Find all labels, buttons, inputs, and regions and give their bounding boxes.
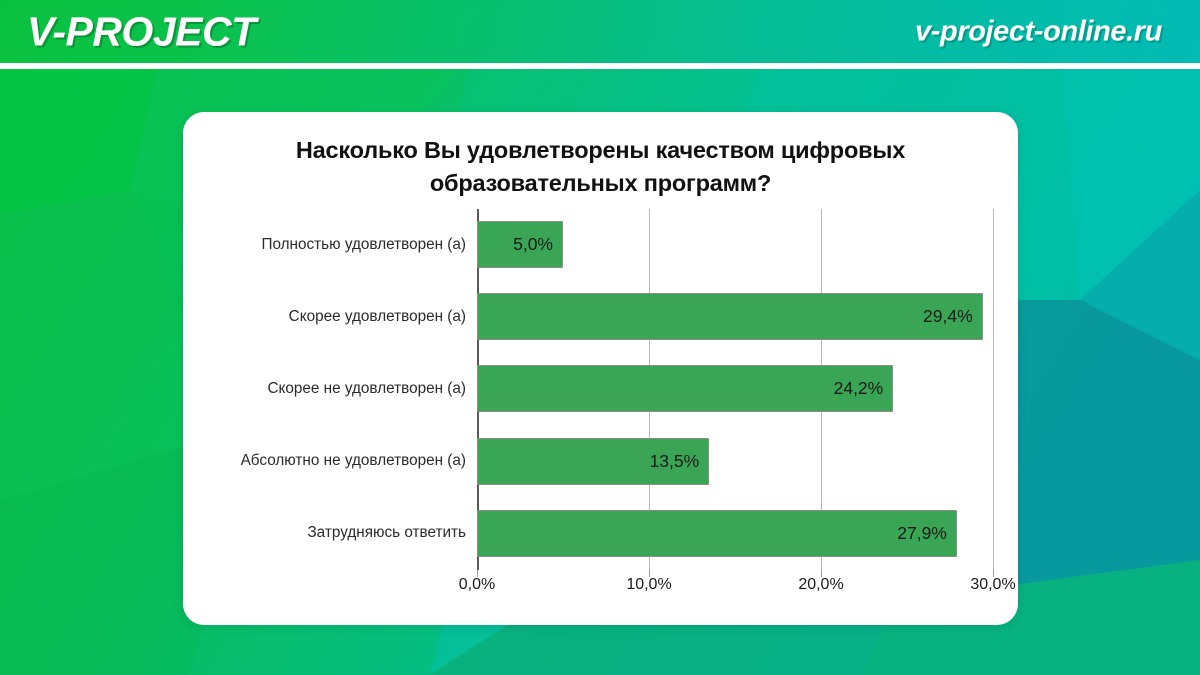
bar-value-label: 29,4% [923, 306, 982, 327]
bar-value-label: 5,0% [513, 234, 562, 255]
x-axis-tick-label: 20,0% [798, 576, 843, 594]
site-header-bar: V-PROJECT v-project-online.ru [0, 0, 1200, 63]
bar-row: Скорее удовлетворен (а)29,4% [477, 281, 993, 353]
bar-value-label: 27,9% [897, 523, 956, 544]
bar-row: Абсолютно не удовлетворен (а)13,5% [477, 426, 993, 498]
bar[interactable]: 13,5% [477, 438, 709, 485]
bar-row: Затрудняюсь ответить27,9% [477, 498, 993, 570]
category-label: Затрудняюсь ответить [209, 510, 477, 557]
brand-url[interactable]: v-project-online.ru [915, 15, 1162, 48]
bar-value-label: 13,5% [650, 451, 709, 472]
x-gridline [993, 209, 994, 570]
x-axis-tick-label: 10,0% [626, 576, 671, 594]
bar-row: Полностью удовлетворен (а)5,0% [477, 209, 993, 281]
bar[interactable]: 29,4% [477, 293, 983, 340]
chart-plot-area: 0,0%10,0%20,0%30,0%Полностью удовлетворе… [477, 209, 993, 570]
category-label: Полностью удовлетворен (а) [209, 221, 477, 268]
chart-card: Насколько Вы удовлетворены качеством циф… [183, 112, 1018, 625]
bar-value-label: 24,2% [834, 378, 893, 399]
bar[interactable]: 27,9% [477, 510, 957, 557]
category-label: Абсолютно не удовлетворен (а) [209, 438, 477, 485]
header-divider-rule [0, 63, 1200, 69]
x-axis-tick-label: 0,0% [459, 576, 495, 594]
bar[interactable]: 24,2% [477, 365, 893, 412]
chart-title: Насколько Вы удовлетворены качеством циф… [223, 134, 978, 200]
bar[interactable]: 5,0% [477, 221, 563, 268]
bar-row: Скорее не удовлетворен (а)24,2% [477, 353, 993, 425]
category-label: Скорее не удовлетворен (а) [209, 365, 477, 412]
brand-title: V-PROJECT [27, 8, 256, 55]
x-axis-tick-label: 30,0% [970, 576, 1015, 594]
category-label: Скорее удовлетворен (а) [209, 293, 477, 340]
